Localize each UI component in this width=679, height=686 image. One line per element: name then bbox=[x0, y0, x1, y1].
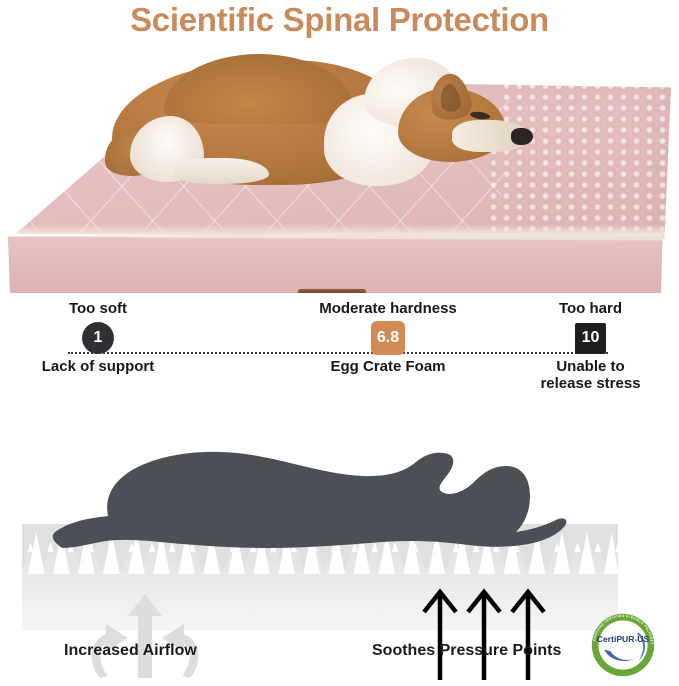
scale-bottom-label-egg-crate-foam: Egg Crate Foam bbox=[293, 358, 483, 375]
scale-badge-row-too-hard: 10 bbox=[508, 321, 673, 355]
page-title: Scientific Spinal Protection bbox=[0, 0, 679, 40]
scale-badge-row-moderate: 6.8 bbox=[293, 321, 483, 355]
caption-soothes-pressure-points: Soothes Pressure Points bbox=[372, 642, 561, 660]
scale-stop-too-hard: Too hard 10 Unable to release stress bbox=[508, 300, 673, 392]
airflow-arrows bbox=[80, 590, 210, 680]
infographic-page: Scientific Spinal Protection WESTERN HOM… bbox=[0, 0, 679, 686]
scale-badge-value-10: 10 bbox=[575, 323, 606, 354]
certipur-us-seal: CONTAINS CERTIFIED FLEXIBLE POLYURETHANE… bbox=[573, 606, 673, 684]
airflow-arrow-center bbox=[128, 594, 162, 678]
dog-nose bbox=[511, 128, 533, 145]
brand-leather-label: WESTERN HOME bbox=[298, 289, 366, 293]
scale-badge-value-6-8: 6.8 bbox=[371, 321, 405, 355]
scale-top-label-too-hard: Too hard bbox=[508, 300, 673, 318]
scale-top-label-moderate-hardness: Moderate hardness bbox=[293, 300, 483, 318]
caption-increased-airflow: Increased Airflow bbox=[64, 642, 197, 660]
scale-bottom-label-unable-to-release-stress: Unable to release stress bbox=[508, 358, 673, 392]
dog-bed-front-wall bbox=[6, 237, 665, 293]
dog-silhouette bbox=[44, 444, 604, 554]
scale-stop-moderate: Moderate hardness 6.8 Egg Crate Foam bbox=[293, 300, 483, 375]
dog-front-paws bbox=[174, 158, 269, 184]
corgi-dog-photo bbox=[112, 54, 532, 199]
hardness-scale: Too soft 1 Lack of support Moderate hard… bbox=[0, 300, 679, 410]
scale-top-label-too-soft: Too soft bbox=[8, 300, 188, 318]
scale-bottom-label-lack-of-support: Lack of support bbox=[8, 358, 188, 375]
pressure-arrows bbox=[418, 580, 550, 682]
scale-badge-row-too-soft: 1 bbox=[8, 321, 188, 355]
scale-badge-value-1: 1 bbox=[82, 322, 114, 354]
product-photo: WESTERN HOME bbox=[0, 48, 679, 293]
seal-brand-text: CertiPUR-US bbox=[597, 634, 650, 644]
scale-stop-too-soft: Too soft 1 Lack of support bbox=[8, 300, 188, 375]
